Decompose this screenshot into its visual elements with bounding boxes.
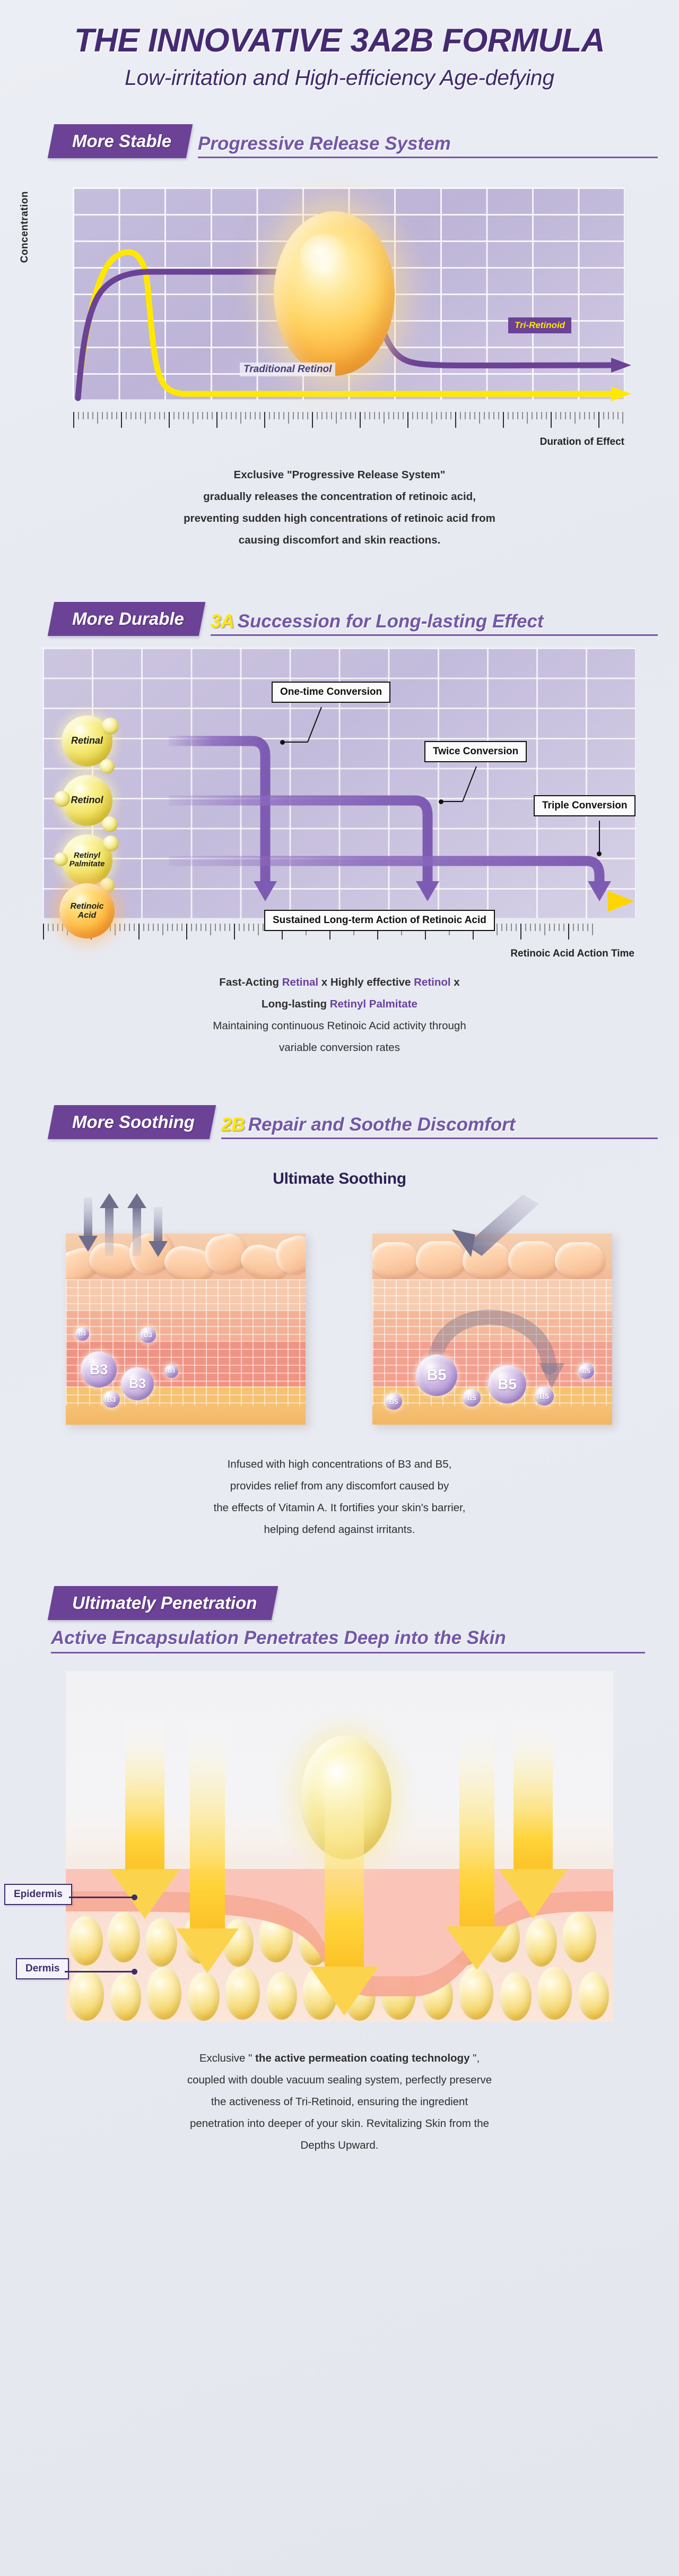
- caption-4-suffix: ",: [469, 2052, 480, 2064]
- capsule-illustration: [274, 211, 395, 376]
- badge-label: More Durable: [72, 609, 184, 629]
- caption-section-1: Exclusive "Progressive Release System" g…: [0, 464, 679, 551]
- satellite-bubble: [100, 759, 115, 774]
- stratum-band: [66, 1386, 306, 1406]
- b3-bubble-large: B3: [81, 1351, 117, 1388]
- section-heading-ultimately-penetration: Ultimately Penetration Active Encapsulat…: [0, 1586, 679, 1653]
- molecule-label: Retinal: [71, 736, 103, 746]
- caption-2-f: Long-lasting: [262, 998, 330, 1010]
- caption-4-bold: the active permeation coating technology: [255, 2052, 469, 2064]
- molecule-label: Retinyl: [74, 851, 100, 860]
- heading-rest-text: Repair and Soothe Discomfort: [248, 1114, 516, 1135]
- b5-bubble-small: B5: [535, 1386, 554, 1406]
- satellite-bubble: [102, 816, 118, 832]
- arrowhead-traditional-retinol: [611, 386, 631, 401]
- section-heading-more-soothing: More Soothing 2BRepair and Soothe Discom…: [0, 1105, 679, 1139]
- caption-2-a: Fast-Acting: [219, 976, 282, 988]
- heading-rest-text: Succession for Long-lasting Effect: [238, 611, 544, 632]
- heading-accent-3a: 3A: [211, 611, 234, 632]
- chart1-label-tri-retinoid: Tri-Retinoid: [508, 317, 571, 333]
- badge-more-durable: More Durable: [48, 602, 205, 636]
- badge-label: Ultimately Penetration: [72, 1593, 257, 1613]
- path-retinol: [169, 800, 428, 884]
- badge-more-stable: More Stable: [48, 124, 193, 158]
- caption-3-line-1: Infused with high concentrations of B3 a…: [0, 1453, 679, 1475]
- section-heading-text: Progressive Release System: [198, 133, 658, 158]
- section-heading-text: 2BRepair and Soothe Discomfort: [221, 1114, 658, 1139]
- skin-block-damaged: B3 B3 B3 B3 B3 B3: [66, 1234, 306, 1425]
- molecule-label: Retinoic: [70, 902, 103, 911]
- molecule-retinol: Retinol: [62, 775, 112, 826]
- caption-2-retinal: Retinal: [282, 976, 318, 988]
- b3-bubble-small: B3: [164, 1364, 178, 1378]
- callout-one-time-conversion: One-time Conversion: [272, 682, 390, 703]
- b5-bubble-small: B5: [578, 1363, 594, 1379]
- section-heading-more-durable: More Durable 3ASuccession for Long-lasti…: [0, 602, 679, 636]
- caption-1-bold: "Progressive Release System": [287, 469, 446, 481]
- caption-2-line-3: Maintaining continuous Retinoic Acid act…: [0, 1015, 679, 1037]
- chart-progressive-release: Concentration Traditional Retinol Tri-Re…: [0, 158, 679, 455]
- satellite-bubble: [54, 852, 68, 866]
- arrowhead-baseline: [608, 891, 634, 912]
- chart1-label-traditional-retinol: Traditional Retinol: [240, 363, 335, 376]
- b3-bubble-large: B3: [121, 1367, 154, 1400]
- tag-leader-dermis: [65, 1971, 135, 1972]
- tag-epidermis: Epidermis: [4, 1884, 72, 1905]
- b5-bubble-large: B5: [416, 1355, 457, 1396]
- caption-3-line-3: the effects of Vitamin A. It fortifies y…: [0, 1497, 679, 1519]
- caption-2-e: x: [451, 976, 460, 988]
- chart-conversion-pathways: Retinal Retinol Retinyl Palmitate Retino…: [0, 636, 679, 965]
- molecule-retinal: Retinal: [62, 716, 112, 766]
- page-subtitle: Low-irritation and High-efficiency Age-d…: [0, 65, 679, 90]
- infographic-page: THE INNOVATIVE 3A2B FORMULA Low-irritati…: [0, 0, 679, 2576]
- caption-1-line-4: causing discomfort and skin reactions.: [0, 529, 679, 551]
- callout-sustained-action: Sustained Long-term Action of Retinoic A…: [264, 910, 495, 931]
- moisture-arrows-left: [63, 1193, 307, 1257]
- b5-bubble-large: B5: [488, 1365, 526, 1403]
- section-heading-more-stable: More Stable Progressive Release System: [0, 124, 679, 158]
- arrowhead-tri-retinoid: [611, 358, 631, 373]
- caption-section-2: Fast-Acting Retinal x Highly effective R…: [0, 971, 679, 1058]
- satellite-bubble: [103, 835, 119, 851]
- caption-2-line-4: variable conversion rates: [0, 1037, 679, 1058]
- skin-cross-sections: B3 B3 B3 B3 B3 B3: [0, 1188, 679, 1437]
- molecule-label: Acid: [78, 911, 97, 920]
- page-title: THE INNOVATIVE 3A2B FORMULA: [0, 23, 679, 58]
- badge-label: More Soothing: [72, 1112, 195, 1132]
- penetration-diagram: Epidermis Dermis: [0, 1672, 679, 2043]
- b3-bubble-small: B3: [103, 1391, 120, 1408]
- stratum-band: [66, 1279, 306, 1310]
- badge-more-soothing: More Soothing: [48, 1105, 216, 1139]
- tag-dermis: Dermis: [16, 1958, 69, 1979]
- caption-4-line-3: the activeness of Tri-Retinoid, ensuring…: [0, 2091, 679, 2113]
- b3-bubble-small: B3: [75, 1327, 89, 1341]
- caption-4-line-5: Depths Upward.: [0, 2134, 679, 2156]
- hero-header: THE INNOVATIVE 3A2B FORMULA Low-irritati…: [0, 0, 679, 90]
- callout-twice-conversion: Twice Conversion: [424, 741, 527, 762]
- section-heading-text: Active Encapsulation Penetrates Deep int…: [51, 1627, 645, 1653]
- caption-4-line-2: coupled with double vacuum sealing syste…: [0, 2069, 679, 2091]
- b3-bubble-small: B3: [140, 1327, 156, 1343]
- heading-accent-2b: 2B: [221, 1114, 245, 1135]
- ultimate-soothing-title: Ultimate Soothing: [0, 1170, 679, 1188]
- callout-triple-conversion: Triple Conversion: [534, 795, 636, 816]
- caption-2-retinyl-palmitate: Retinyl Palmitate: [330, 998, 417, 1010]
- penetration-arrows: [0, 1672, 679, 2043]
- satellite-bubble: [54, 791, 70, 807]
- b5-bubble-small: B5: [463, 1389, 481, 1407]
- satellite-bubble: [102, 718, 119, 735]
- caption-3-line-4: helping defend against irritants.: [0, 1519, 679, 1540]
- caption-3-line-2: provides relief from any discomfort caus…: [0, 1475, 679, 1497]
- caption-1-line-3: preventing sudden high concentrations of…: [0, 507, 679, 529]
- caption-1-prefix: Exclusive: [234, 469, 287, 481]
- caption-section-4: Exclusive " the active permeation coatin…: [0, 2047, 679, 2156]
- caption-4-line-4: penetration into deeper of your skin. Re…: [0, 2113, 679, 2134]
- caption-2-retinol: Retinol: [414, 976, 450, 988]
- b5-bubble-small: B5: [385, 1393, 402, 1410]
- badge-label: More Stable: [72, 131, 171, 151]
- molecule-label: Retinol: [71, 795, 103, 805]
- caption-1-line-2: gradually releases the concentration of …: [0, 486, 679, 507]
- caption-4-prefix: Exclusive ": [199, 2052, 255, 2064]
- molecule-retinoic-acid: Retinoic Acid: [59, 883, 115, 938]
- tag-leader-epidermis: [69, 1897, 135, 1898]
- molecule-label: Palmitate: [69, 860, 105, 868]
- caption-2-c: x Highly effective: [318, 976, 414, 988]
- section-heading-text: 3ASuccession for Long-lasting Effect: [211, 611, 658, 636]
- blocked-arrow-right: [419, 1194, 578, 1263]
- stratum-band: [66, 1310, 306, 1341]
- molecule-retinyl-palmitate: Retinyl Palmitate: [62, 834, 112, 885]
- caption-section-3: Infused with high concentrations of B3 a…: [0, 1453, 679, 1540]
- path-retinyl-palmitate: [169, 861, 599, 884]
- badge-ultimately-penetration: Ultimately Penetration: [48, 1586, 278, 1620]
